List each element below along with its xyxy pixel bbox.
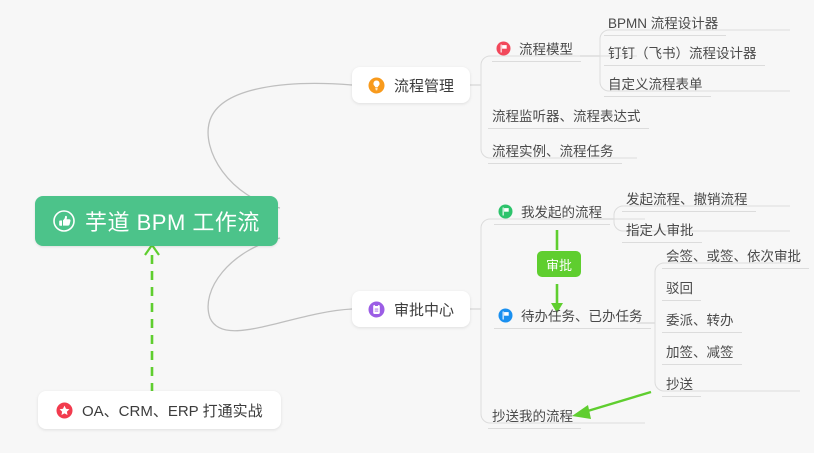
root-label: 芋道 BPM 工作流 [85,205,260,237]
label-cc: 抄送 [666,378,693,392]
branch-label-approval-center: 审批中心 [394,299,454,320]
leaf-add-remove-sign[interactable]: 加签、减签 [662,341,742,365]
label-start-cancel-process: 发起流程、撤销流程 [626,193,748,207]
label-bpmn-designer: BPMN 流程设计器 [608,17,718,31]
label-assignee-approval: 指定人审批 [626,224,694,238]
node-todo-done-task[interactable]: 待办任务、已办任务 [494,305,651,329]
label-custom-process-form: 自定义流程表单 [608,78,703,92]
lightbulb-icon [368,77,385,94]
leaf-cc[interactable]: 抄送 [662,373,701,397]
branch-node-process-management[interactable]: 流程管理 [352,67,470,103]
connector-root-to-process-management [208,83,352,208]
integration-callout-node[interactable]: OA、CRM、ERP 打通实战 [38,391,281,429]
label-cc-to-me-process: 抄送我的流程 [492,410,573,424]
thumbs-up-icon [53,210,75,232]
flag-blue-icon [498,308,513,323]
label-todo-done-task: 待办任务、已办任务 [521,310,643,324]
leaf-countersign[interactable]: 会签、或签、依次审批 [662,245,809,269]
connector-root-to-approval-center [208,238,352,331]
leaf-instance-task[interactable]: 流程实例、流程任务 [488,140,622,164]
node-my-initiated-process[interactable]: 我发起的流程 [494,201,610,225]
flag-red-icon [496,41,511,56]
root-node[interactable]: 芋道 BPM 工作流 [35,196,278,246]
branch-node-approval-center[interactable]: 审批中心 [352,291,470,327]
label-my-initiated-process: 我发起的流程 [521,206,602,220]
leaf-bpmn-designer[interactable]: BPMN 流程设计器 [604,12,726,36]
flag-green-icon [498,204,513,219]
label-instance-task: 流程实例、流程任务 [492,145,614,159]
node-process-model[interactable]: 流程模型 [492,38,581,62]
leaf-cc-to-me-process[interactable]: 抄送我的流程 [488,405,581,429]
leaf-start-cancel-process[interactable]: 发起流程、撤销流程 [622,188,756,212]
label-listener-expression: 流程监听器、流程表达式 [492,110,641,124]
label-add-remove-sign: 加签、减签 [666,346,734,360]
mindmap-canvas: 芋道 BPM 工作流 OA、CRM、ERP 打通实战 流程管理 [0,0,814,453]
star-icon [56,402,73,419]
clipboard-icon [368,301,385,318]
leaf-reject[interactable]: 驳回 [662,277,701,301]
leaf-listener-expression[interactable]: 流程监听器、流程表达式 [488,105,649,129]
label-countersign: 会签、或签、依次审批 [666,250,801,264]
integration-callout-label: OA、CRM、ERP 打通实战 [82,400,263,421]
leaf-assignee-approval[interactable]: 指定人审批 [622,219,702,243]
label-dingtalk-feishu-designer: 钉钉（飞书）流程设计器 [608,47,757,61]
integration-dashed-arrowhead [145,245,159,255]
label-process-model: 流程模型 [519,43,573,57]
approval-badge: 审批 [537,251,581,277]
branch-label-process-management: 流程管理 [394,75,454,96]
leaf-delegate-transfer[interactable]: 委派、转办 [662,309,742,333]
cc-link-arrow-line [581,392,651,413]
label-delegate-transfer: 委派、转办 [666,314,734,328]
approval-badge-label: 审批 [546,255,572,274]
leaf-dingtalk-feishu-designer[interactable]: 钉钉（飞书）流程设计器 [604,42,765,66]
leaf-custom-process-form[interactable]: 自定义流程表单 [604,73,711,97]
label-reject: 驳回 [666,282,693,296]
